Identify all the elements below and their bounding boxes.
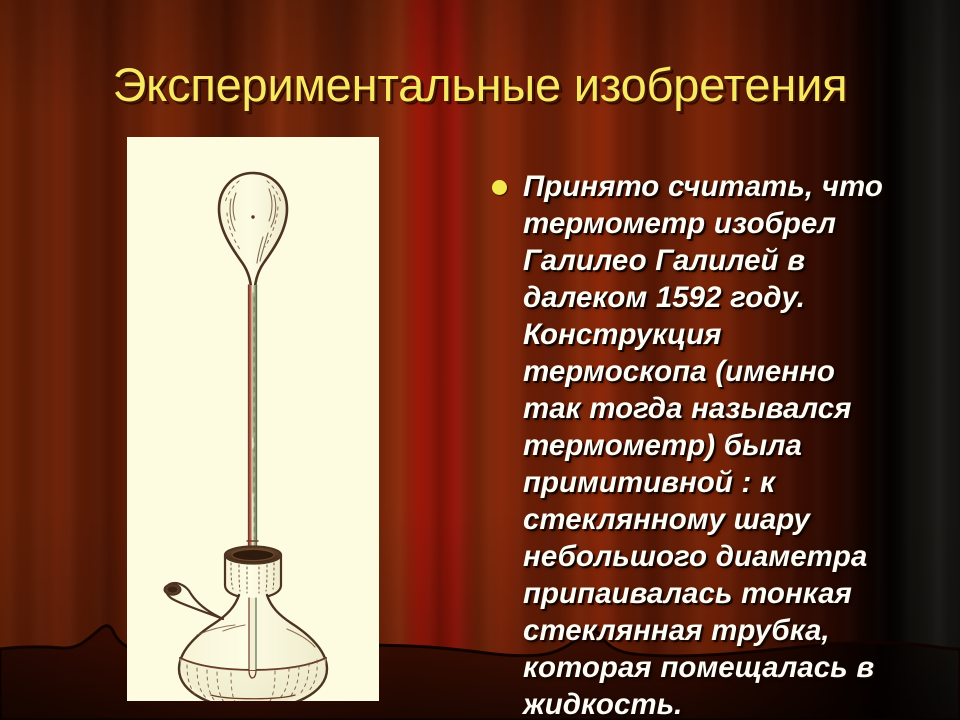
content-bullet-list: Принято считать, что термометр изобрел Г… xyxy=(492,168,884,720)
thermoscope-image-panel xyxy=(127,137,379,701)
bullet-item-text: Принято считать, что термометр изобрел Г… xyxy=(523,168,884,720)
bullet-dot-icon xyxy=(492,180,507,195)
slide-title: Экспериментальные изобретения xyxy=(0,57,960,112)
slide-canvas: Экспериментальные изобретения xyxy=(0,0,960,720)
